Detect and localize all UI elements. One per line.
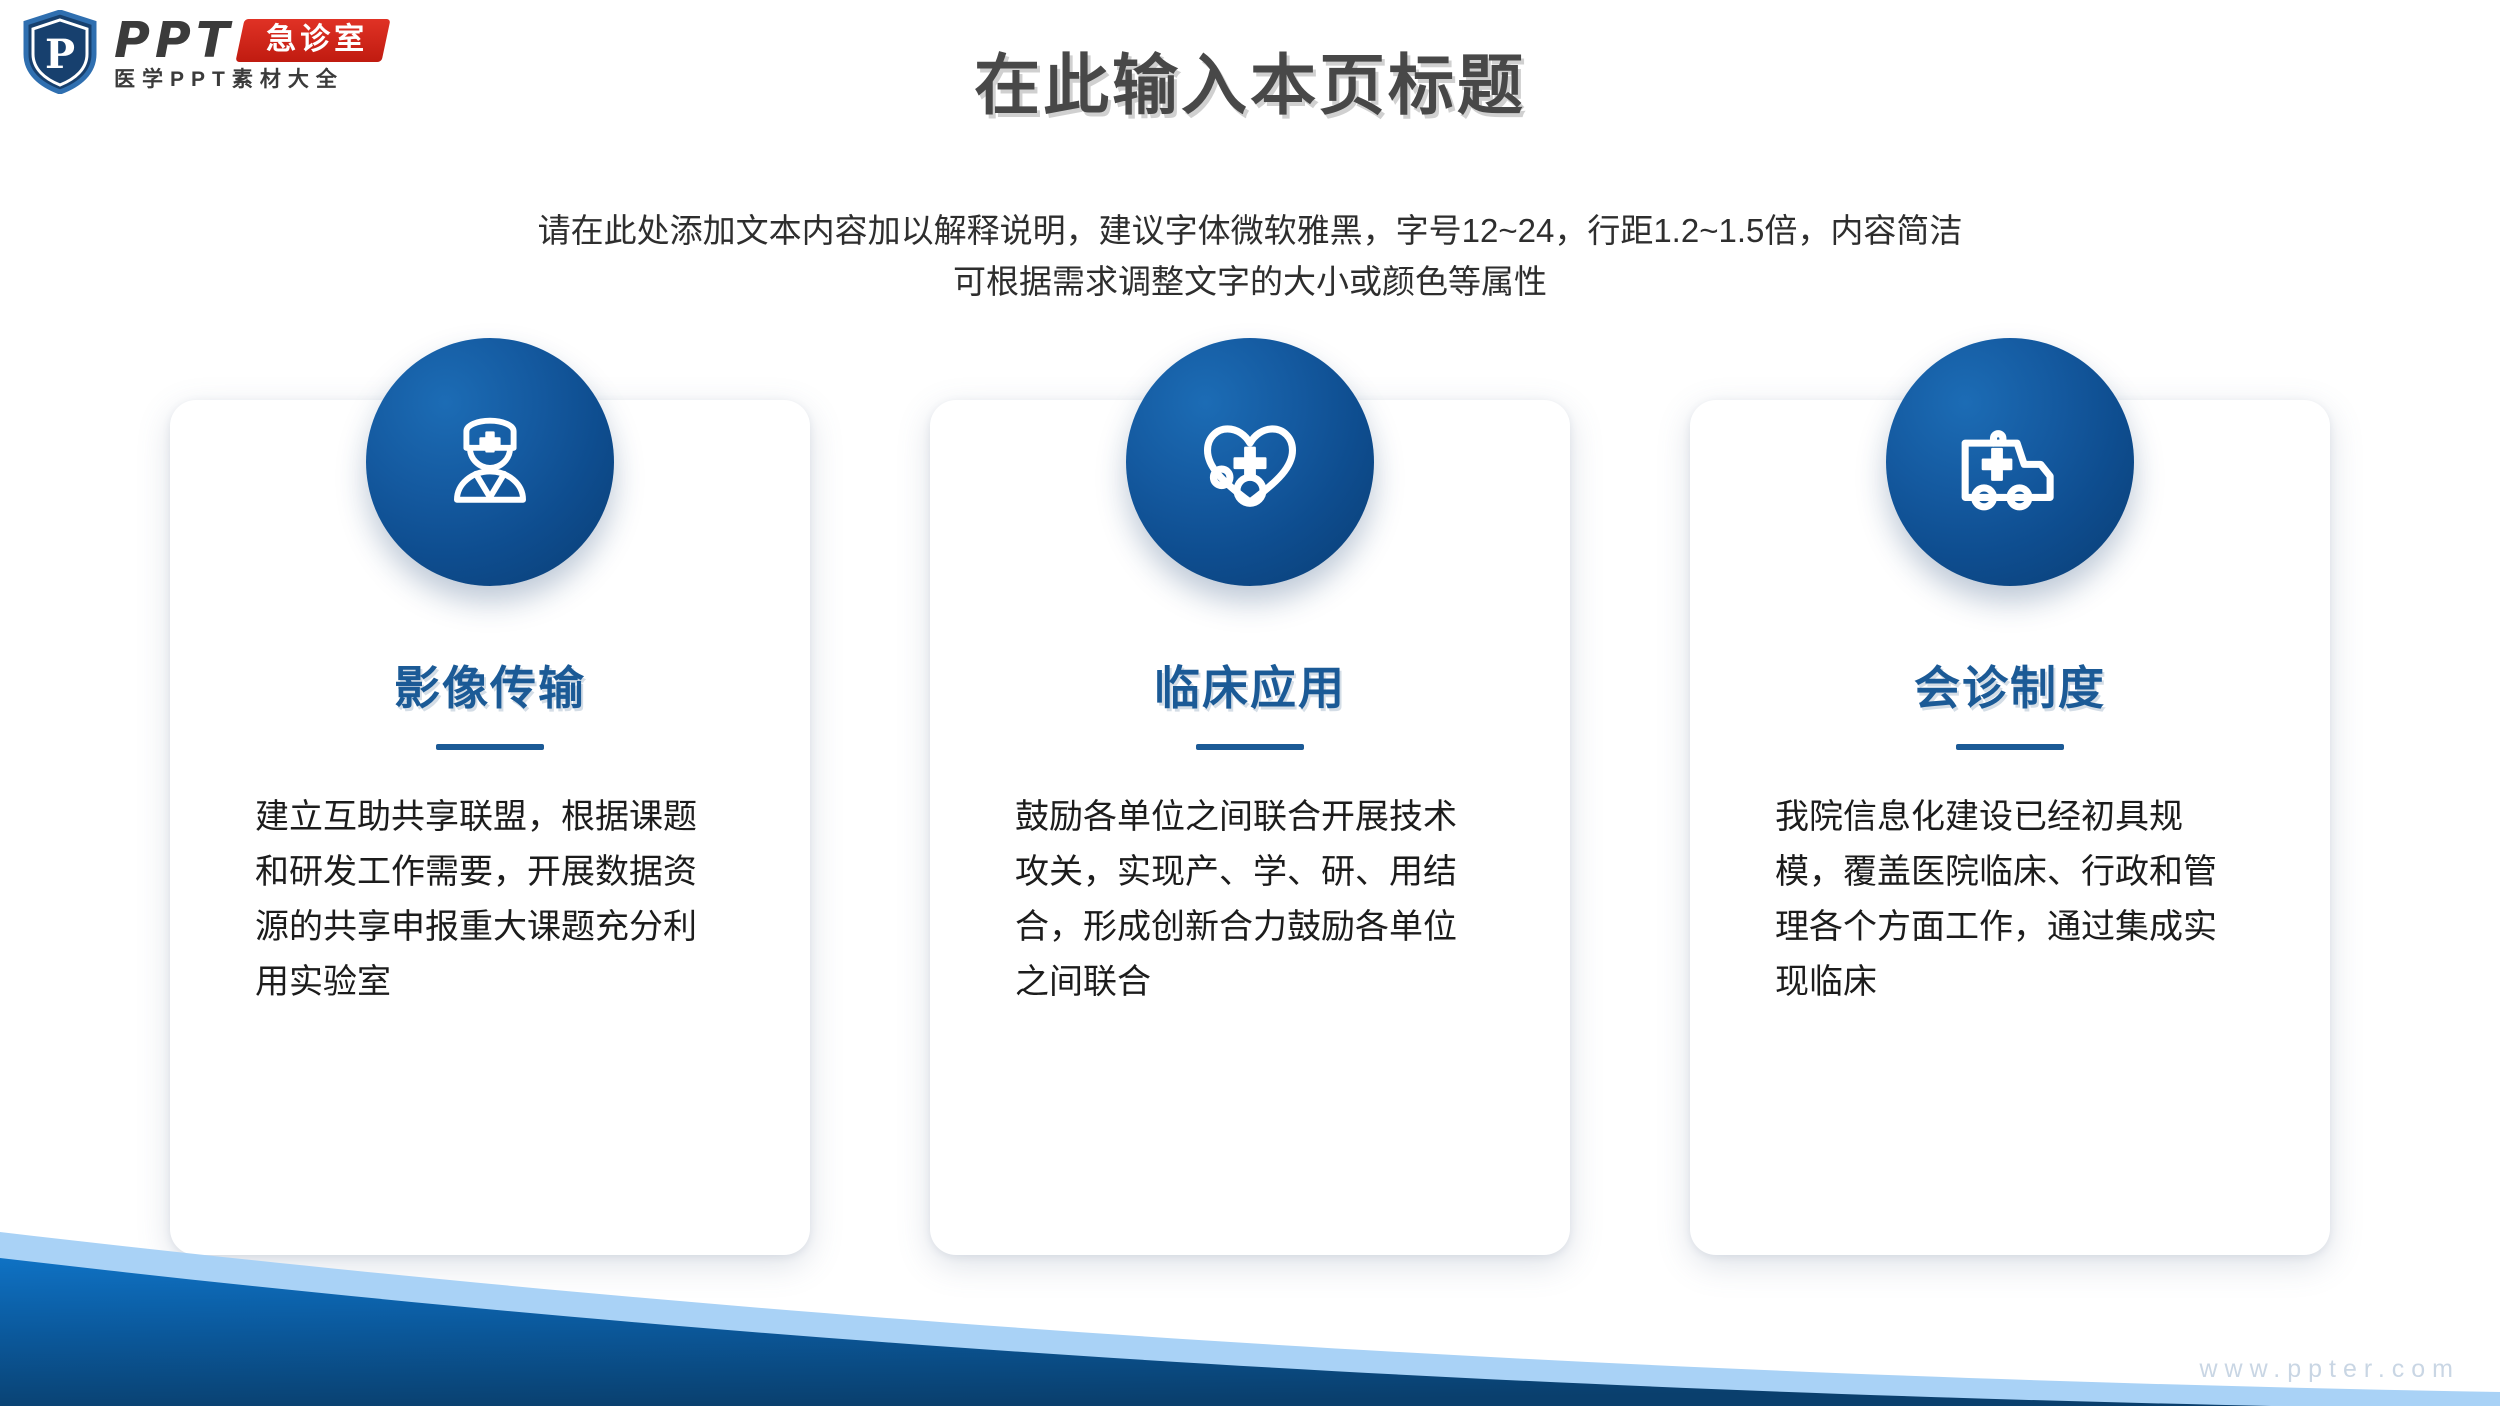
card-title: 临床应用 (1154, 652, 1346, 718)
doctor-icon (431, 403, 549, 521)
card-icon-wrap (1126, 338, 1374, 586)
card-body: 我院信息化建设已经初具规模，覆盖医院临床、行政和管理各个方面工作，通过集成实现临… (1775, 790, 2245, 1010)
subtitle-line-1: 请在此处添加文本内容加以解释说明，建议字体微软雅黑，字号12~24，行距1.2~… (300, 205, 2200, 256)
card-divider (1196, 744, 1304, 750)
card-title: 会诊制度 (1914, 652, 2106, 718)
card-icon-circle (1126, 338, 1374, 586)
card-body: 建立互助共享联盟，根据课题和研发工作需要，开展数据资源的共享申报重大课题充分利用… (255, 790, 725, 1010)
card-icon-circle (1886, 338, 2134, 586)
feature-card[interactable]: 影像传输 建立互助共享联盟，根据课题和研发工作需要，开展数据资源的共享申报重大课… (170, 400, 810, 1255)
card-body: 鼓励各单位之间联合开展技术攻关，实现产、学、研、用结合，形成创新合力鼓励各单位之… (1015, 790, 1485, 1010)
card-icon-wrap (1886, 338, 2134, 586)
page-title: 在此输入本页标题 (0, 32, 2500, 128)
card-icon-circle (366, 338, 614, 586)
card-icon-wrap (366, 338, 614, 586)
ambulance-icon (1951, 403, 2069, 521)
subtitle-line-2: 可根据需求调整文字的大小或颜色等属性 (300, 256, 2200, 307)
card-title: 影像传输 (394, 652, 586, 718)
feature-card-row: 影像传输 建立互助共享联盟，根据课题和研发工作需要，开展数据资源的共享申报重大课… (170, 400, 2330, 1255)
card-divider (436, 744, 544, 750)
feature-card[interactable]: 临床应用 鼓励各单位之间联合开展技术攻关，实现产、学、研、用结合，形成创新合力鼓… (930, 400, 1570, 1255)
heart-stethoscope-icon (1191, 403, 1309, 521)
bottom-wave-decoration (0, 1196, 2500, 1406)
slide-canvas: P PPT 急诊室 医学PPT素材大全 在此输入本页标题 请在此处添加文本内容加… (0, 0, 2500, 1406)
page-subtitle: 请在此处添加文本内容加以解释说明，建议字体微软雅黑，字号12~24，行距1.2~… (300, 205, 2200, 307)
feature-card[interactable]: 会诊制度 我院信息化建设已经初具规模，覆盖医院临床、行政和管理各个方面工作，通过… (1690, 400, 2330, 1255)
site-watermark: www.ppter.com (2199, 1355, 2460, 1384)
card-divider (1956, 744, 2064, 750)
